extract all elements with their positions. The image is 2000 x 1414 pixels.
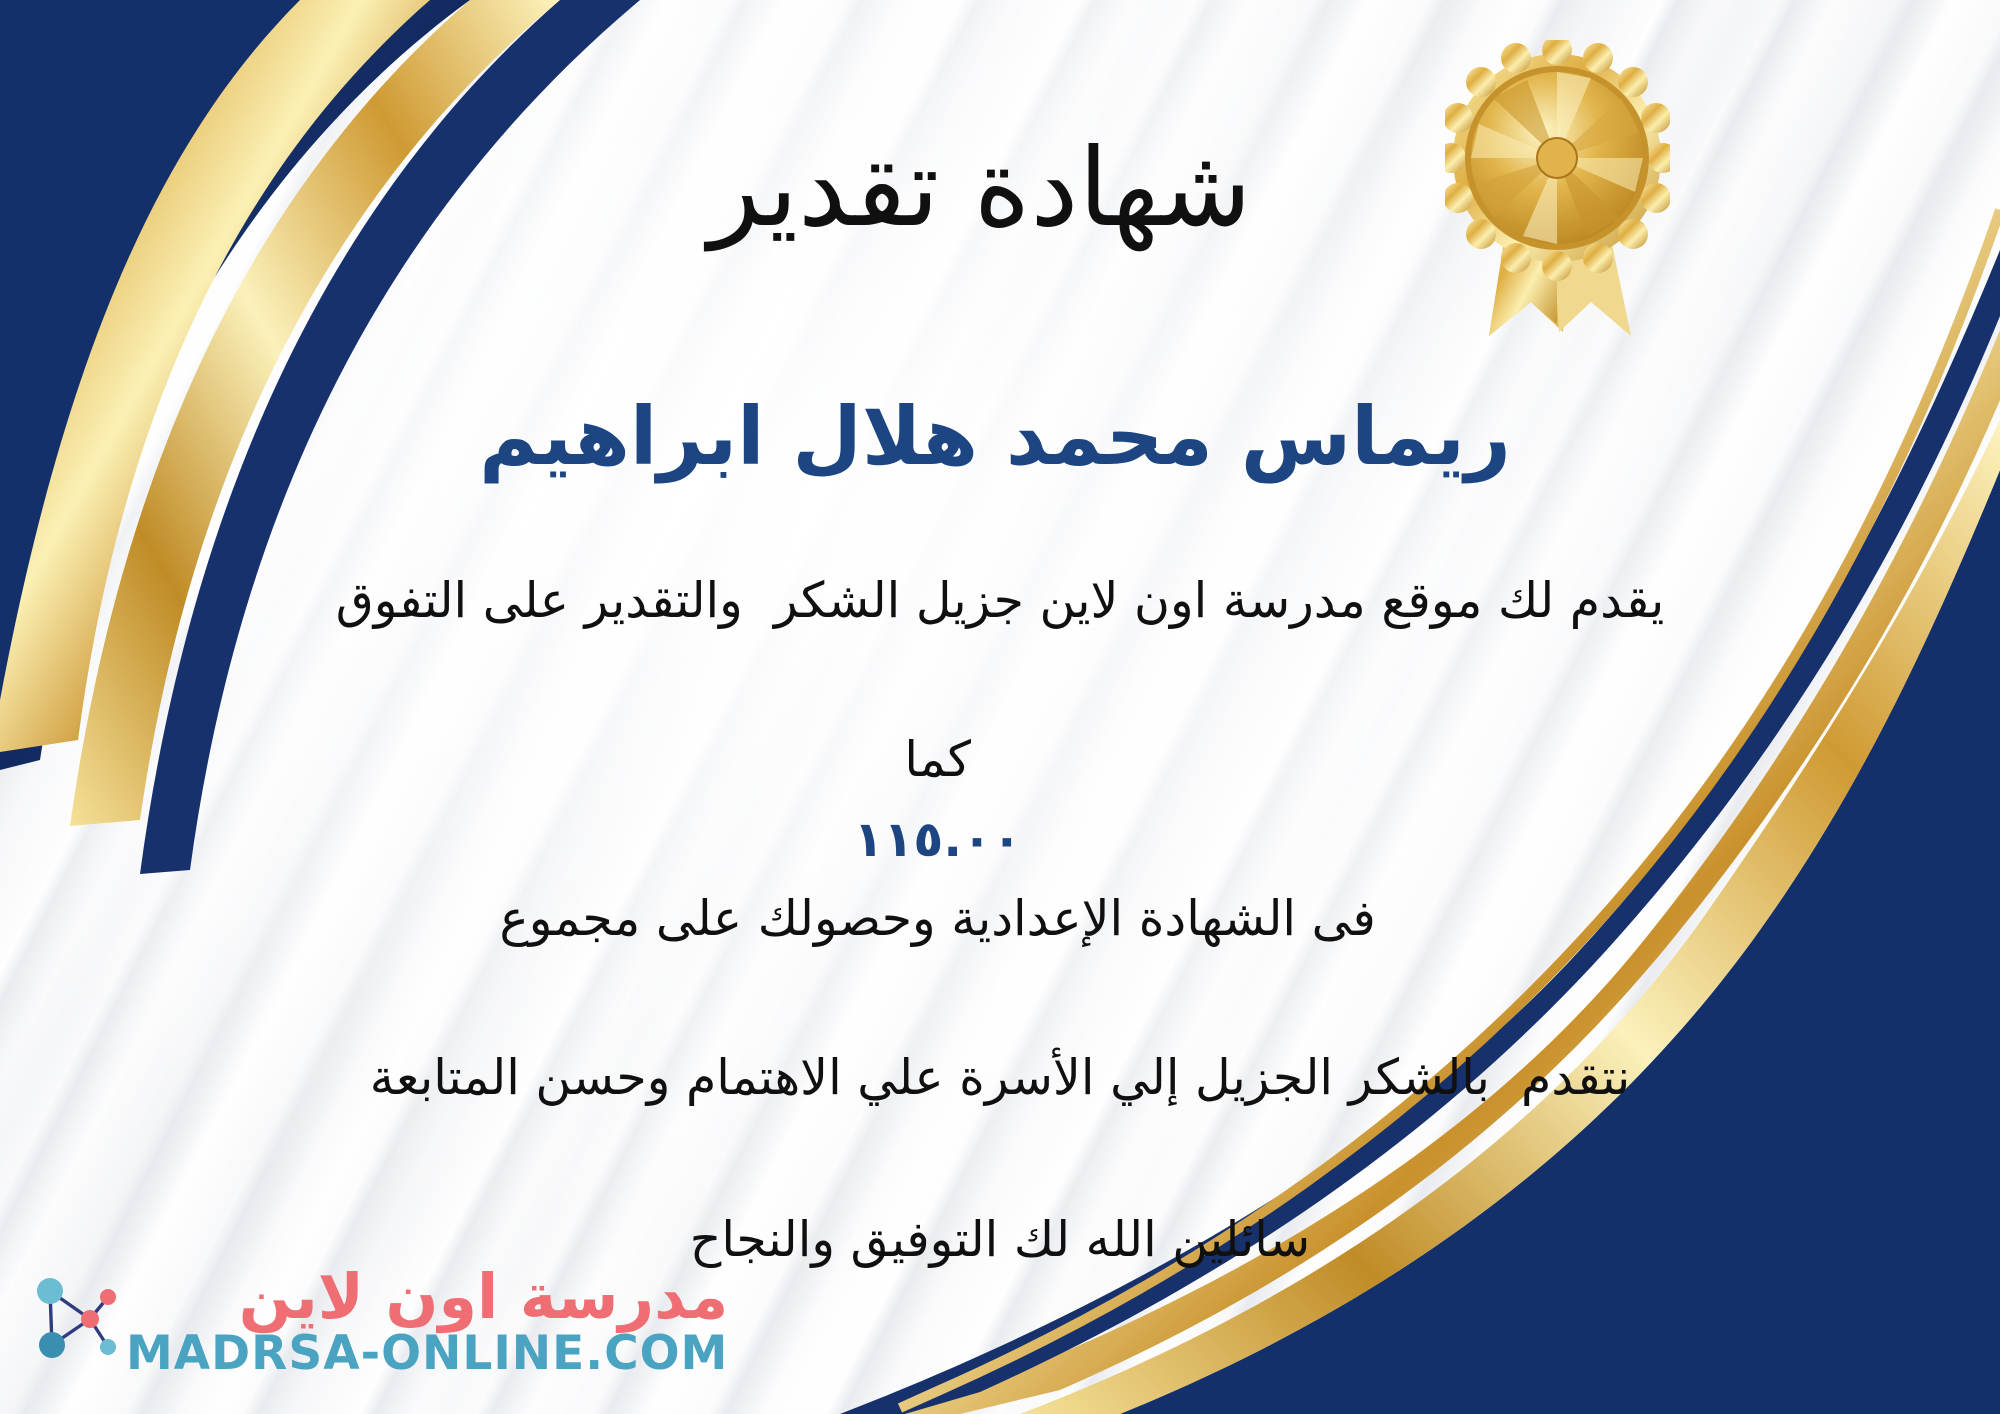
certificate-canvas: شهادة تقدير ريماس محمد هلال ابراهيم يقدم… [0, 0, 2000, 1414]
body-line-2: كما ١١٥.٠٠ فى الشهادة الإعدادية وحصولك ع… [150, 641, 1850, 1038]
body-line-2-suffix: كما [904, 731, 971, 788]
brand-logo[interactable]: مدرسة اون لاين MADRSA-ONLINE.COM [28, 1264, 728, 1378]
brand-logo-text: مدرسة اون لاين MADRSA-ONLINE.COM [126, 1264, 728, 1378]
body-line-2-prefix: فى الشهادة الإعدادية وحصولك على مجموع [500, 890, 1376, 947]
body-line-3: نتقدم بالشكر الجزيل إلي الأسرة علي الاهت… [150, 1038, 1850, 1117]
certificate-content: شهادة تقدير ريماس محمد هلال ابراهيم يقدم… [0, 0, 2000, 1414]
body-line-1: يقدم لك موقع مدرسة اون لاين جزيل الشكر و… [150, 561, 1850, 640]
recipient-name: ريماس محمد هلال ابراهيم [479, 393, 1521, 481]
brand-arabic-name: مدرسة اون لاين [239, 1264, 729, 1329]
brand-website-url: MADRSA-ONLINE.COM [126, 1329, 728, 1378]
closing-wish: سائلين الله لك التوفيق والنجاح [690, 1203, 1310, 1277]
grade-total-value: ١١٥.٠٠ [836, 811, 1040, 868]
network-nodes-icon [28, 1267, 120, 1375]
certificate-title: شهادة تقدير [708, 132, 1291, 245]
certificate-body: يقدم لك موقع مدرسة اون لاين جزيل الشكر و… [150, 561, 1850, 1117]
